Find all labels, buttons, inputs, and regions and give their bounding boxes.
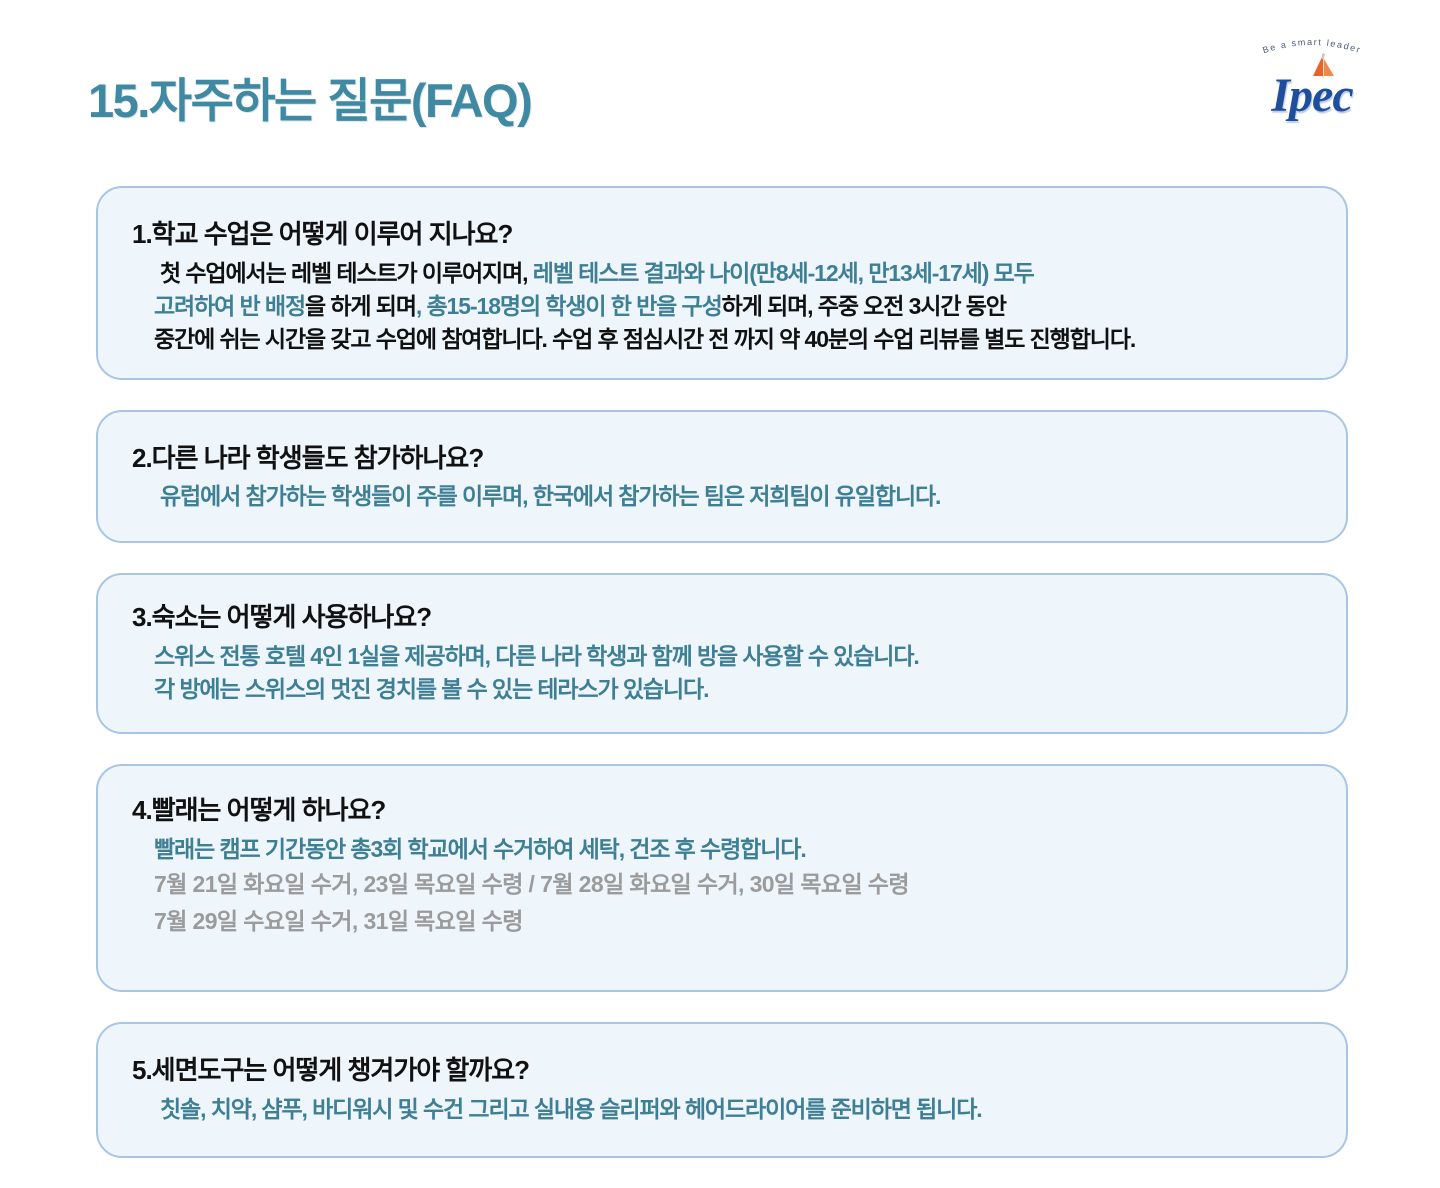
faq-list: 1.학교 수업은 어떻게 이루어 지나요? 첫 수업에서는 레벨 테스트가 이루… — [96, 186, 1348, 1188]
faq-answer-4: 빨래는 캠프 기간동안 총3회 학교에서 수거하여 세탁, 건조 후 수령합니다… — [132, 833, 1312, 941]
faq-answer-line: 유럽에서 참가하는 학생들이 주를 이루며, 한국에서 참가하는 팀은 저희팀이… — [154, 480, 1312, 513]
faq-slide: 15.자주하는 질문(FAQ) Be a smart leader Ipec — [0, 0, 1440, 1080]
faq-item-4: 4.빨래는 어떻게 하나요? 빨래는 캠프 기간동안 총3회 학교에서 수거하여… — [96, 764, 1348, 992]
answer-segment: 중간에 쉬는 시간을 갖고 수업에 참여합니다. 수업 후 점심시간 전 까지 … — [154, 326, 1135, 352]
faq-answer-line: 중간에 쉬는 시간을 갖고 수업에 참여합니다. 수업 후 점심시간 전 까지 … — [154, 323, 1312, 356]
answer-segment: 7월 29일 수요일 수거, 31일 목요일 수령 — [154, 908, 523, 934]
answer-segment: 각 방에는 스위스의 멋진 경치를 볼 수 있는 테라스가 있습니다. — [154, 676, 708, 702]
faq-item-5: 5.세면도구는 어떻게 챙겨가야 할까요? 칫솔, 치약, 샴푸, 바디워시 및… — [96, 1022, 1348, 1158]
faq-answer-line-dates: 7월 21일 화요일 수거, 23일 목요일 수령 / 7월 28일 화요일 수… — [154, 866, 1312, 903]
answer-segment: 하게 되며, 주중 오전 3시간 동안 — [722, 293, 1006, 319]
faq-answer-line: 칫솔, 치약, 샴푸, 바디워시 및 수건 그리고 실내용 슬리퍼와 헤어드라이… — [154, 1093, 1312, 1126]
faq-question-4: 4.빨래는 어떻게 하나요? — [132, 794, 1312, 827]
answer-segment: 을 하게 되며 — [305, 293, 416, 319]
faq-answer-3: 스위스 전통 호텔 4인 1실을 제공하며, 다른 나라 학생과 함께 방을 사… — [132, 640, 1312, 706]
answer-segment: 유럽에서 참가하는 학생들이 주를 이루며, 한국에서 참가하는 팀은 저희팀이… — [160, 483, 940, 509]
answer-segment: , — [416, 293, 427, 319]
faq-answer-line: 스위스 전통 호텔 4인 1실을 제공하며, 다른 나라 학생과 함께 방을 사… — [154, 640, 1312, 673]
faq-item-3: 3.숙소는 어떻게 사용하나요? 스위스 전통 호텔 4인 1실을 제공하며, … — [96, 573, 1348, 734]
faq-answer-line: 첫 수업에서는 레벨 테스트가 이루어지며, 레벨 테스트 결과와 나이(만8세… — [154, 257, 1312, 290]
faq-question-5: 5.세면도구는 어떻게 챙겨가야 할까요? — [132, 1054, 1312, 1087]
ipec-logo: Be a smart leader Ipec — [1246, 28, 1378, 126]
faq-answer-1: 첫 수업에서는 레벨 테스트가 이루어지며, 레벨 테스트 결과와 나이(만8세… — [132, 257, 1312, 356]
logo-wordmark: Ipec — [1246, 68, 1378, 123]
page-title: 15.자주하는 질문(FAQ) — [88, 62, 531, 131]
faq-answer-line: 각 방에는 스위스의 멋진 경치를 볼 수 있는 테라스가 있습니다. — [154, 673, 1312, 706]
answer-segment: 칫솔, 치약, 샴푸, 바디워시 및 수건 그리고 실내용 슬리퍼와 헤어드라이… — [160, 1096, 982, 1122]
faq-answer-2: 유럽에서 참가하는 학생들이 주를 이루며, 한국에서 참가하는 팀은 저희팀이… — [132, 480, 1312, 513]
faq-item-1: 1.학교 수업은 어떻게 이루어 지나요? 첫 수업에서는 레벨 테스트가 이루… — [96, 186, 1348, 380]
faq-question-2: 2.다른 나라 학생들도 참가하나요? — [132, 442, 1312, 475]
answer-segment: 7월 21일 화요일 수거, 23일 목요일 수령 / 7월 28일 화요일 수… — [154, 871, 909, 897]
faq-answer-line: 빨래는 캠프 기간동안 총3회 학교에서 수거하여 세탁, 건조 후 수령합니다… — [154, 833, 1312, 866]
answer-segment: 스위스 전통 호텔 4인 1실을 제공하며, 다른 나라 학생과 함께 방을 사… — [154, 643, 919, 669]
faq-question-1: 1.학교 수업은 어떻게 이루어 지나요? — [132, 218, 1312, 251]
answer-segment: 첫 수업에서는 레벨 테스트가 이루어지며, — [160, 260, 533, 286]
answer-segment: 빨래는 캠프 기간동안 총3회 학교에서 수거하여 세탁, 건조 후 수령합니다… — [154, 836, 806, 862]
faq-item-2: 2.다른 나라 학생들도 참가하나요? 유럽에서 참가하는 학생들이 주를 이루… — [96, 410, 1348, 544]
answer-segment: 레벨 테스트 결과와 나이(만8세-12세, 만13세-17세) 모두 — [533, 260, 1034, 286]
faq-question-3: 3.숙소는 어떻게 사용하나요? — [132, 601, 1312, 634]
answer-segment: 총15-18명의 학생이 한 반을 구성 — [427, 293, 722, 319]
faq-answer-line: 고려하여 반 배정을 하게 되며, 총15-18명의 학생이 한 반을 구성하게… — [154, 290, 1312, 323]
answer-segment: 고려하여 반 배정 — [154, 293, 305, 319]
faq-answer-line-dates: 7월 29일 수요일 수거, 31일 목요일 수령 — [154, 903, 1312, 940]
faq-answer-5: 칫솔, 치약, 샴푸, 바디워시 및 수건 그리고 실내용 슬리퍼와 헤어드라이… — [132, 1093, 1312, 1126]
